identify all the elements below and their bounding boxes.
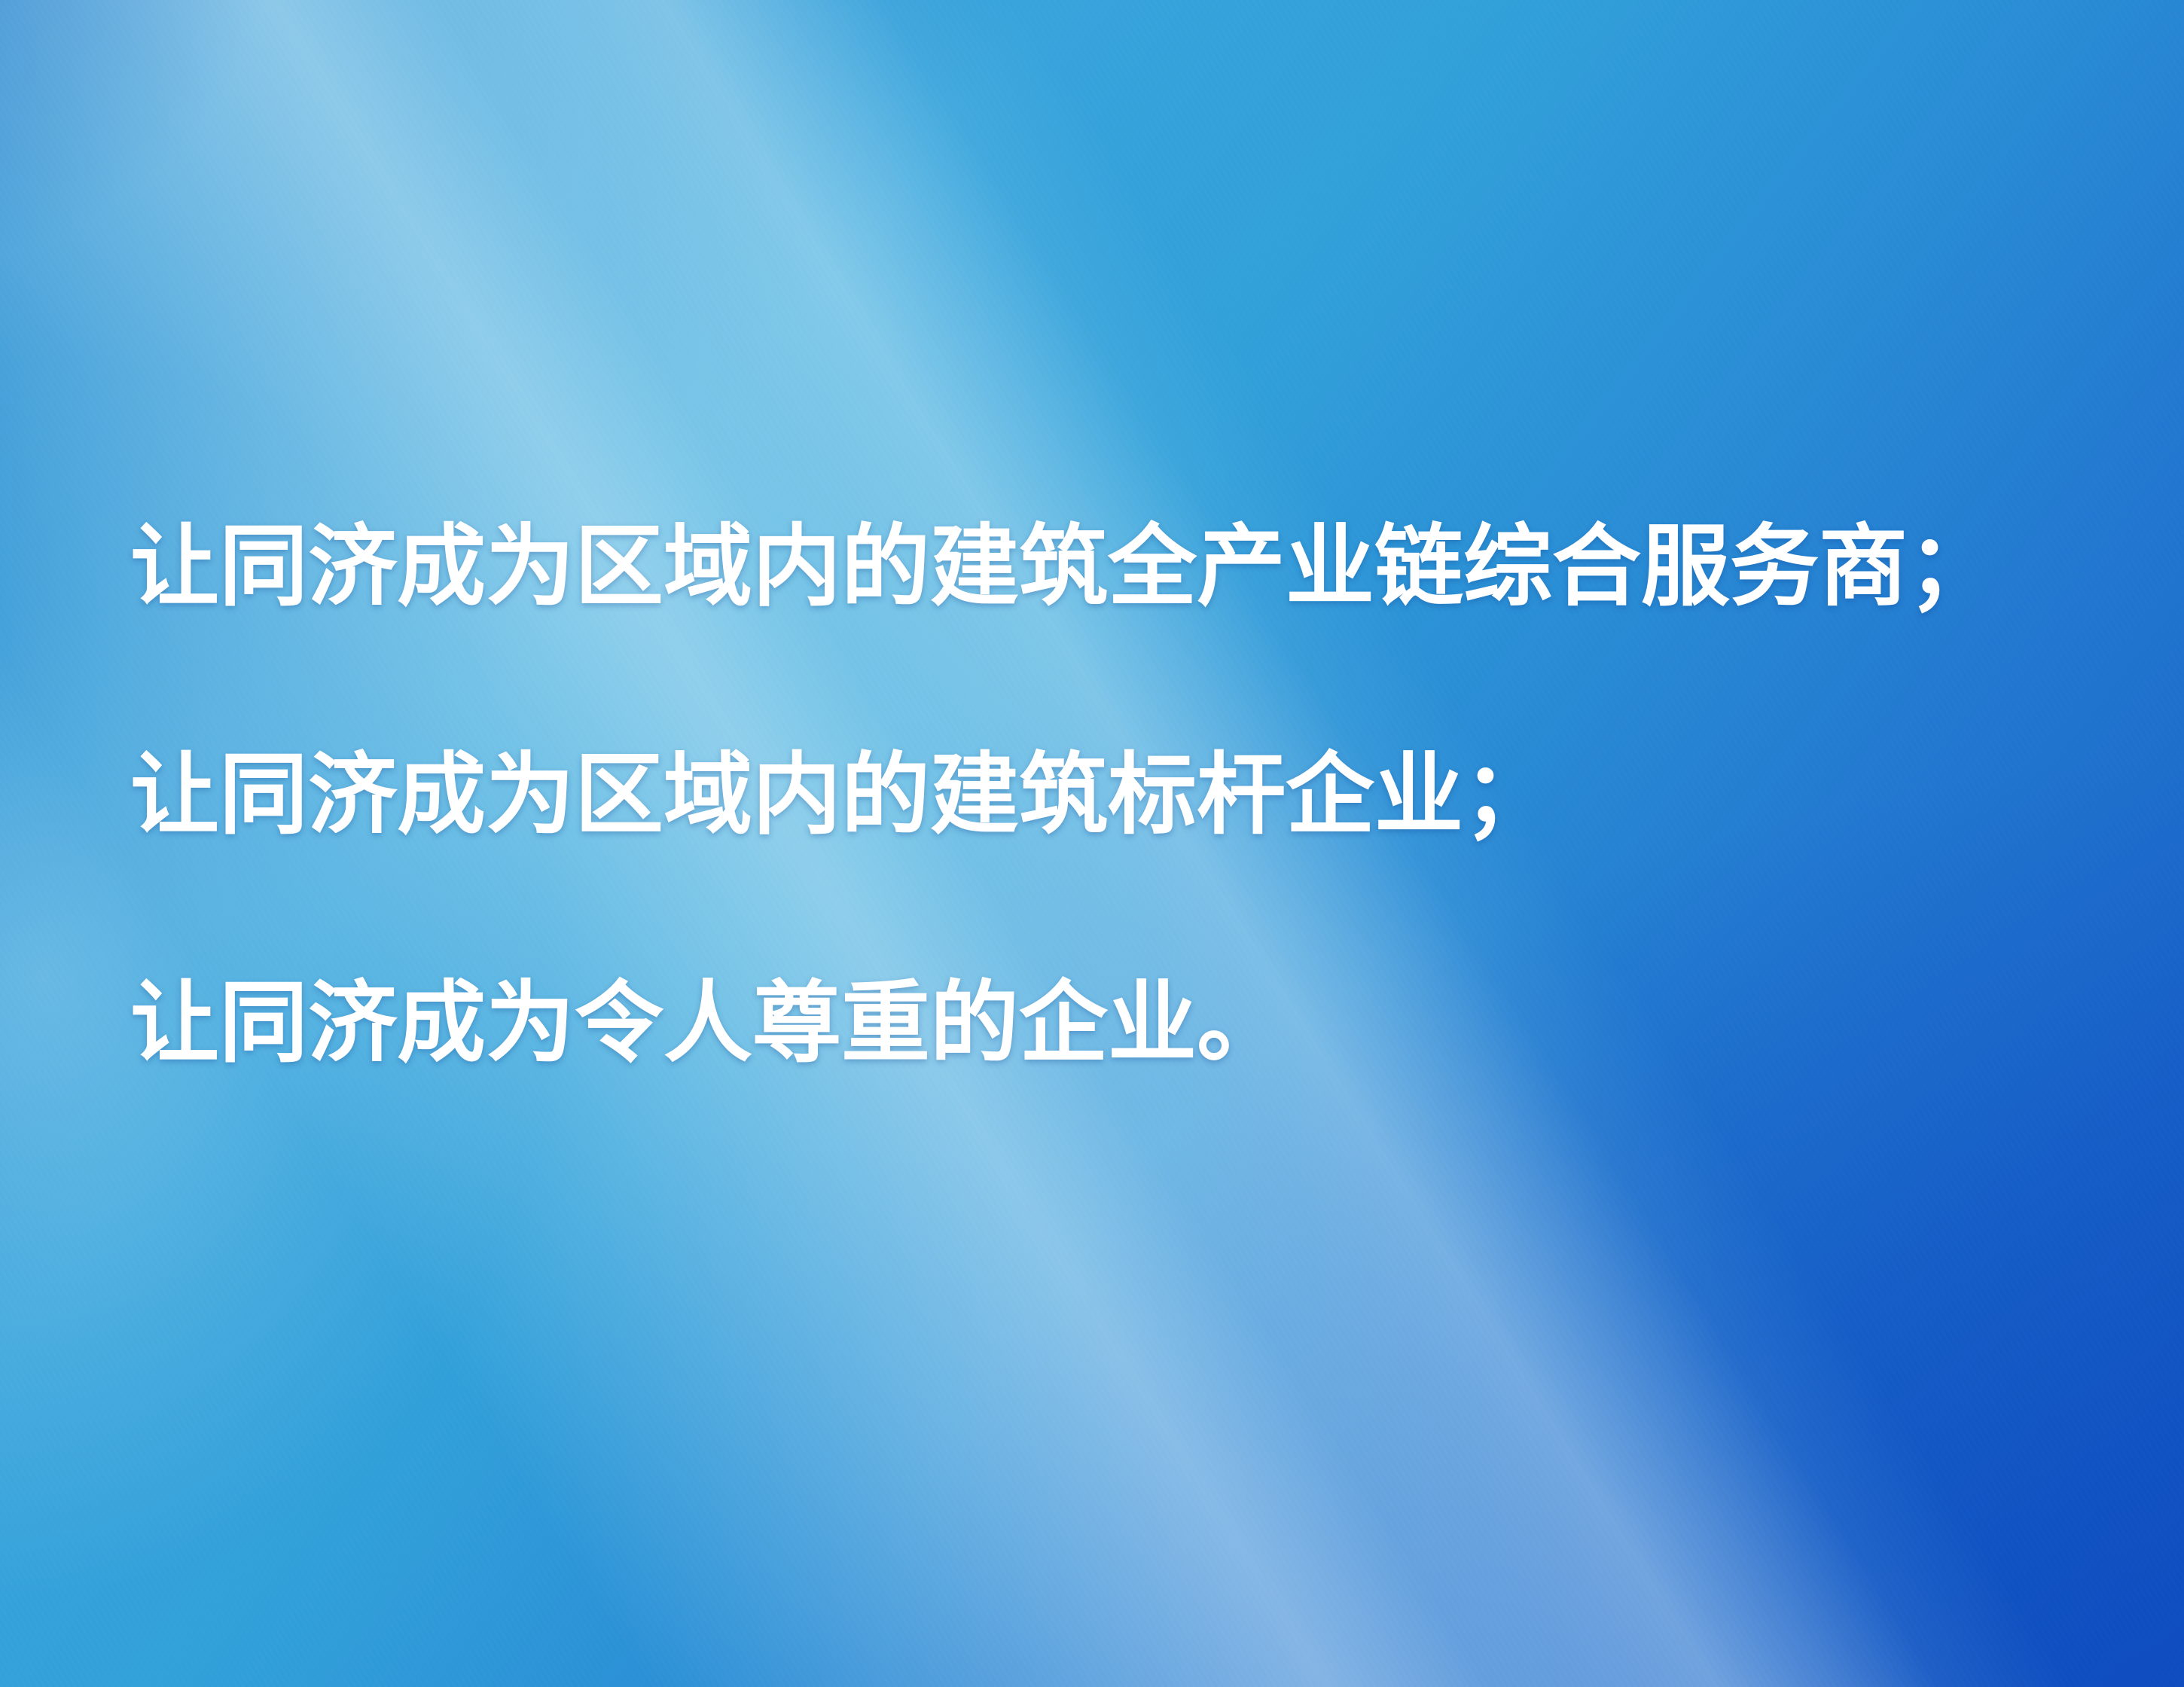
presentation-slide: 让同济成为区域内的建筑全产业链综合服务商； 让同济成为区域内的建筑标杆企业； 让… [0,0,2184,1687]
vision-statement-line-3: 让同济成为令人尊重的企业。 [130,908,2118,1136]
vision-statement-line-2: 让同济成为区域内的建筑标杆企业； [130,680,2118,908]
vision-statement-line-1: 让同济成为区域内的建筑全产业链综合服务商； [130,452,2118,680]
vision-statement-block: 让同济成为区域内的建筑全产业链综合服务商； 让同济成为区域内的建筑标杆企业； 让… [130,452,2118,1136]
